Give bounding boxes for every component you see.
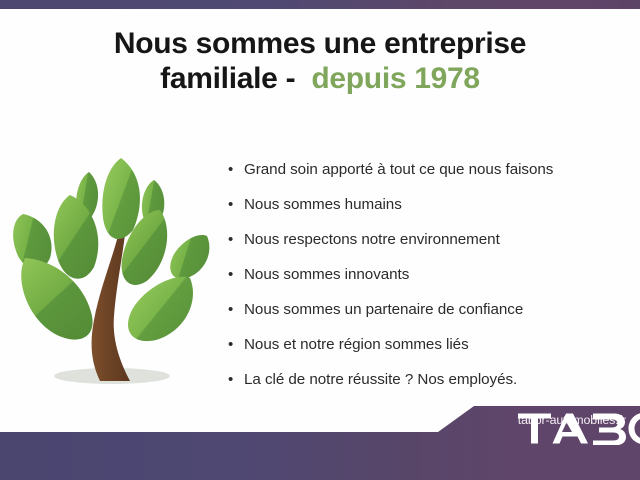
list-item: • Nous sommes innovants [228,257,628,292]
page-title-dash: - [286,62,296,95]
logo-letter-b [593,414,626,446]
list-item-label: Nous et notre région sommes liés [244,327,469,362]
tree-illustration [8,148,214,392]
bullet-icon: • [228,292,244,327]
list-item: • Nous et notre région sommes liés [228,327,628,362]
bullet-icon: • [228,187,244,222]
value-list: • Grand soin apporté à tout ce que nous … [228,152,628,397]
list-item: • Nous sommes humains [228,187,628,222]
list-item-label: Grand soin apporté à tout ce que nous fa… [244,152,553,187]
list-item-label: Nous sommes innovants [244,257,409,292]
list-item-label: Nous sommes un partenaire de confiance [244,292,523,327]
list-item: • La clé de notre réussite ? Nos employé… [228,362,628,397]
list-item: • Nous sommes un partenaire de confiance [228,292,628,327]
tree-leaf [102,158,140,239]
page-title-accent: depuis 1978 [311,62,479,95]
tree-leaf [170,235,209,279]
brand-footer: tabor-automobiles.fr [0,400,640,480]
bullet-icon: • [228,257,244,292]
page-title-line-2-prefix: familiale [160,62,277,95]
top-accent-bar [0,0,640,9]
list-item: • Nous respectons notre environnement [228,222,628,257]
bullet-icon: • [228,222,244,257]
bullet-icon: • [228,152,244,187]
slide-canvas: Nous sommes une entreprise familiale - d… [0,0,640,480]
brand-lockup: tabor-automobiles.fr [518,412,626,427]
list-item-label: La clé de notre réussite ? Nos employés. [244,362,517,397]
logo-letter-t [518,414,551,444]
bullet-icon: • [228,327,244,362]
list-item: • Grand soin apporté à tout ce que nous … [228,152,628,187]
page-title-line-1: Nous sommes une entreprise [0,26,640,61]
logo-letter-a [552,414,588,444]
logo-letter-o [628,413,640,445]
tree-leaf [128,277,193,341]
bullet-icon: • [228,362,244,397]
list-item-label: Nous sommes humains [244,187,402,222]
list-item-label: Nous respectons notre environnement [244,222,500,257]
page-title: Nous sommes une entreprise familiale - d… [0,26,640,97]
page-title-line-2: familiale - depuis 1978 [0,61,640,96]
